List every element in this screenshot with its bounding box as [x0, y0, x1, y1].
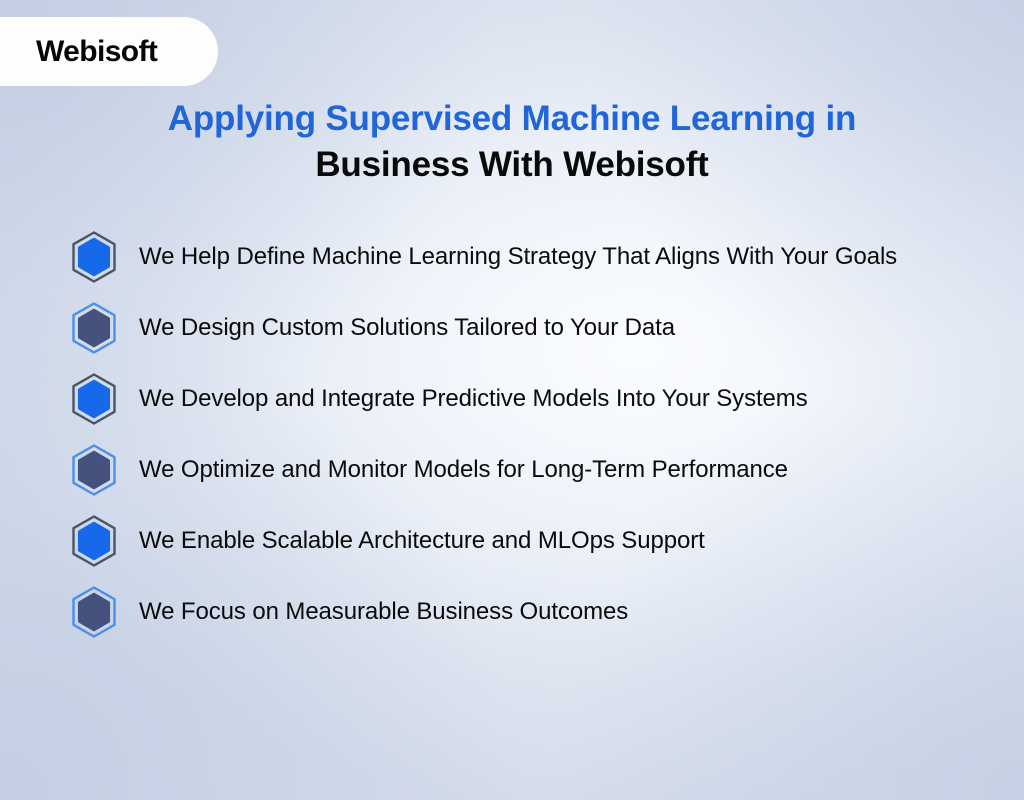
logo-text: Webisoft	[36, 35, 157, 69]
logo-badge[interactable]: Webisoft	[0, 17, 218, 86]
bullet-text: We Focus on Measurable Business Outcomes	[139, 597, 628, 627]
bullet-text: We Design Custom Solutions Tailored to Y…	[139, 313, 675, 343]
bullet-text: We Optimize and Monitor Models for Long-…	[139, 455, 788, 485]
bullet-row: We Design Custom Solutions Tailored to Y…	[66, 300, 1016, 356]
bullet-text: We Help Define Machine Learning Strategy…	[139, 242, 897, 272]
hexagon-icon	[66, 371, 122, 427]
bullet-text: We Develop and Integrate Predictive Mode…	[139, 384, 808, 414]
bullet-list: We Help Define Machine Learning Strategy…	[66, 229, 1016, 655]
page-title-line-1: Applying Supervised Machine Learning in	[0, 96, 1024, 142]
page-title: Applying Supervised Machine Learning in …	[0, 96, 1024, 188]
page-title-line-2: Business With Webisoft	[0, 142, 1024, 188]
hexagon-icon	[66, 442, 122, 498]
bullet-row: We Enable Scalable Architecture and MLOp…	[66, 513, 1016, 569]
hexagon-icon	[66, 229, 122, 285]
bullet-row: We Develop and Integrate Predictive Mode…	[66, 371, 1016, 427]
hexagon-icon	[66, 513, 122, 569]
hexagon-icon	[66, 584, 122, 640]
bullet-row: We Optimize and Monitor Models for Long-…	[66, 442, 1016, 498]
bullet-row: We Help Define Machine Learning Strategy…	[66, 229, 1016, 285]
bullet-text: We Enable Scalable Architecture and MLOp…	[139, 526, 705, 556]
bullet-row: We Focus on Measurable Business Outcomes	[66, 584, 1016, 640]
slide-canvas: Webisoft Applying Supervised Machine Lea…	[0, 0, 1024, 800]
hexagon-icon	[66, 300, 122, 356]
